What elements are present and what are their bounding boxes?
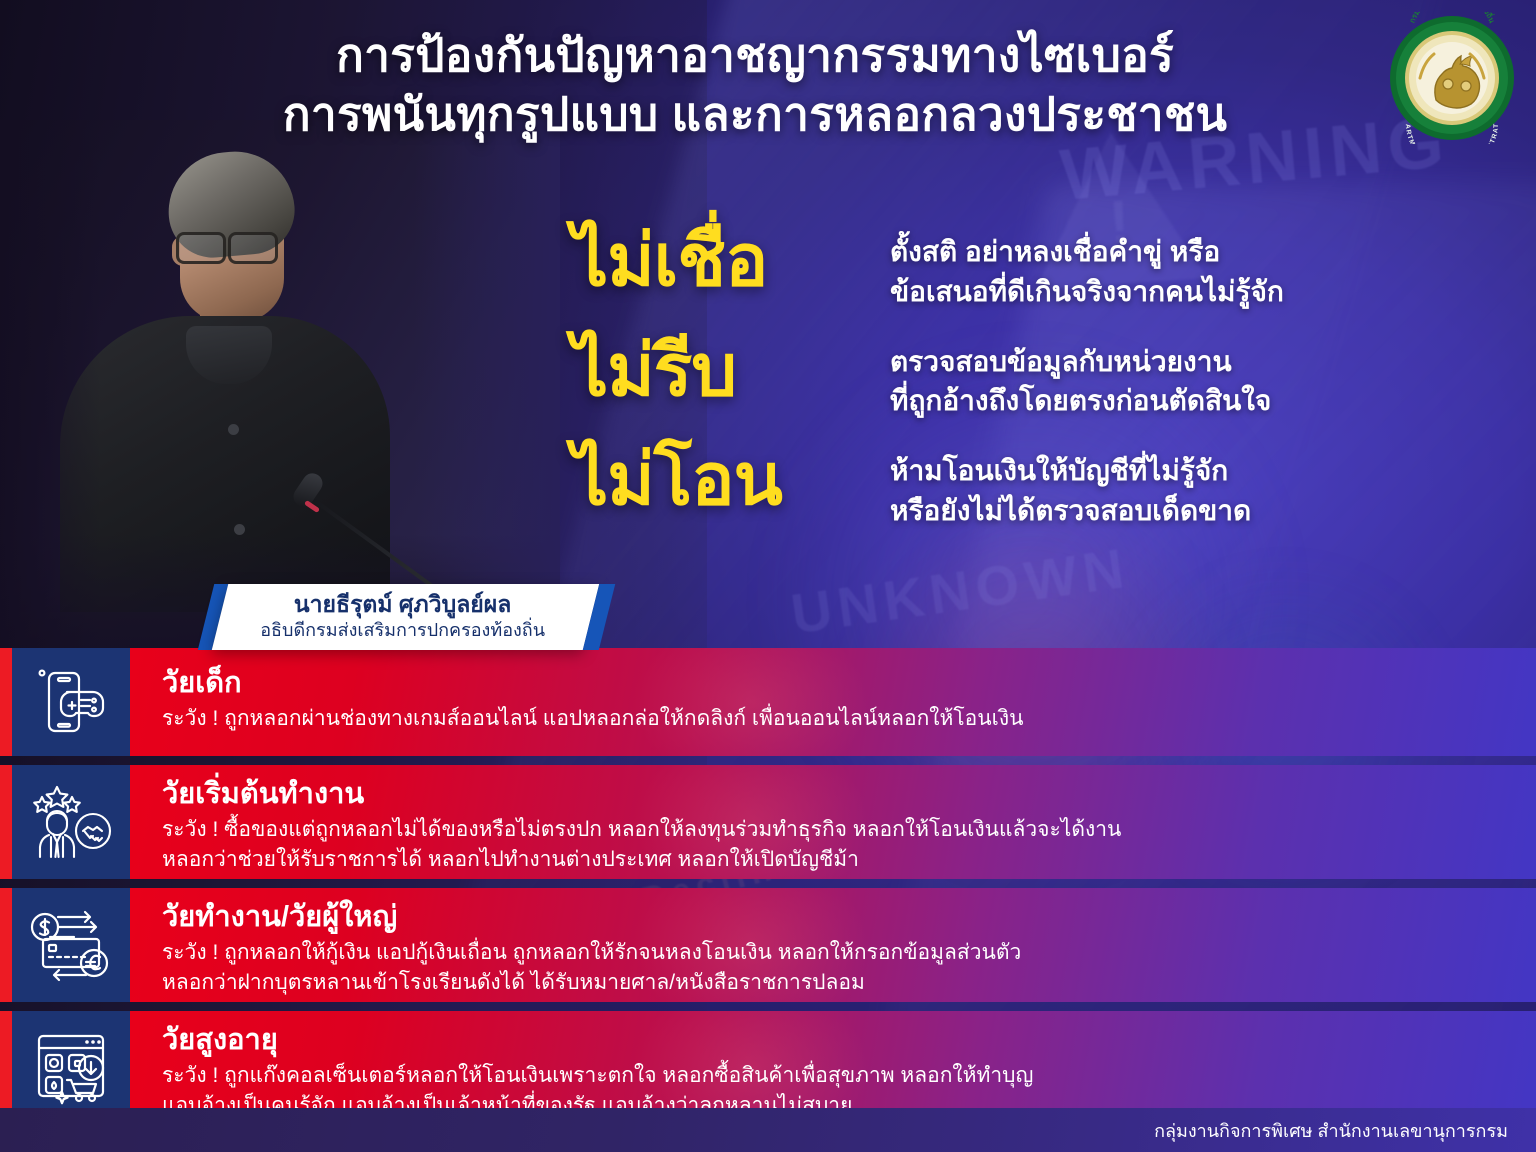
slogan-description: ตรวจสอบข้อมูลกับหน่วยงาน ที่ถูกอ้างถึงโด…: [890, 328, 1472, 422]
speaker-role: อธิบดีกรมส่งเสริมการปกครองท้องถิ่น: [260, 619, 545, 642]
mobile-game-controller-icon: [12, 648, 130, 756]
slogan-desc-line-2: ที่ถูกอ้างถึงโดยตรงก่อนตัดสินใจ: [890, 381, 1472, 421]
age-group-row-early-career: วัยเริ่มต้นทำงาน ระวัง ! ซื้อของแต่ถูกหล…: [0, 765, 1536, 879]
speaker-name: นายธีรุตม์ ศุภวิบูลย์ผล: [260, 591, 545, 619]
age-group-desc-line-1: ระวัง ! ถูกหลอกให้กู้เงิน แอปกู้เงินเถื่…: [162, 938, 1508, 968]
age-group-row-working-age: วัยทำงาน/วัยผู้ใหญ่ ระวัง ! ถูกหลอกให้กู…: [0, 888, 1536, 1002]
slogan-item: ไม่เชื่อ ตั้งสติ อย่าหลงเชื่อคำขู่ หรือ …: [572, 218, 1472, 312]
slogan-keyword: ไม่รีบ: [572, 328, 890, 416]
footer-credit: กลุ่มงานกิจการพิเศษ สำนักงานเลขานุการกรม: [1154, 1116, 1536, 1145]
age-group-desc-line-2: หลอกว่าช่วยให้รับราชการได้ หลอกไปทำงานต่…: [162, 845, 1508, 875]
speaker-name-banner: นายธีรุตม์ ศุภวิบูลย์ผล อธิบดีกรมส่งเสริ…: [206, 584, 607, 650]
slogan-item: ไม่โอน ห้ามโอนเงินให้บัญชีที่ไม่รู้จัก ห…: [572, 437, 1472, 531]
footer-bar: กลุ่มงานกิจการพิเศษ สำนักงานเลขานุการกรม: [0, 1108, 1536, 1152]
age-group-desc-line-1: ระวัง ! ซื้อของแต่ถูกหลอกไม่ได้ของหรือไม…: [162, 815, 1508, 845]
row-content: วัยเด็ก ระวัง ! ถูกหลอกผ่านช่องทางเกมส์อ…: [130, 648, 1536, 756]
row-content: วัยทำงาน/วัยผู้ใหญ่ ระวัง ! ถูกหลอกให้กู…: [130, 888, 1536, 1002]
age-group-title: วัยเด็ก: [162, 666, 1508, 701]
slogan-desc-line-1: ตรวจสอบข้อมูลกับหน่วยงาน: [890, 342, 1472, 382]
businessman-stars-handshake-icon: [12, 765, 130, 879]
slogan-description: ห้ามโอนเงินให้บัญชีที่ไม่รู้จัก หรือยังไ…: [890, 437, 1472, 531]
slogan-desc-line-2: หรือยังไม่ได้ตรวจสอบเด็ดขาด: [890, 491, 1472, 531]
slogan-block: ไม่เชื่อ ตั้งสติ อย่าหลงเชื่อคำขู่ หรือ …: [572, 218, 1472, 547]
age-group-desc-line-1: ระวัง ! ถูกแก๊งคอลเซ็นเตอร์หลอกให้โอนเงิ…: [162, 1061, 1508, 1091]
row-accent-strip: [0, 765, 12, 879]
banner-body: นายธีรุตม์ ศุภวิบูลย์ผล อธิบดีกรมส่งเสริ…: [212, 584, 599, 650]
money-transfer-card-icon: [12, 888, 130, 1002]
slogan-desc-line-1: ตั้งสติ อย่าหลงเชื่อคำขู่ หรือ: [890, 232, 1472, 272]
row-accent-strip: [0, 648, 12, 756]
age-group-title: วัยสูงอายุ: [162, 1023, 1508, 1058]
slogan-desc-line-2: ข้อเสนอที่ดีเกินจริงจากคนไม่รู้จัก: [890, 272, 1472, 312]
speaker-photo: [0, 120, 560, 650]
row-content: วัยเริ่มต้นทำงาน ระวัง ! ซื้อของแต่ถูกหล…: [130, 765, 1536, 879]
age-group-title: วัยเริ่มต้นทำงาน: [162, 777, 1508, 812]
slogan-keyword: ไม่โอน: [572, 437, 890, 525]
age-group-list: วัยเด็ก ระวัง ! ถูกหลอกผ่านช่องทางเกมส์อ…: [0, 648, 1536, 1134]
department-of-local-administration-seal-icon: กรมส่งเสริมการปกครองท้องถิ่น DEPARTMENT …: [1386, 12, 1518, 144]
row-accent-strip: [0, 888, 12, 1002]
slogan-item: ไม่รีบ ตรวจสอบข้อมูลกับหน่วยงาน ที่ถูกอ้…: [572, 328, 1472, 422]
slogan-desc-line-1: ห้ามโอนเงินให้บัญชีที่ไม่รู้จัก: [890, 451, 1472, 491]
slogan-keyword: ไม่เชื่อ: [572, 218, 890, 306]
poster-root: WARNING UNKNOWN Decline Accept การป้องกั…: [0, 0, 1536, 1152]
age-group-desc-line-2: หลอกว่าฝากบุตรหลานเข้าโรงเรียนดังได้ ได้…: [162, 968, 1508, 998]
photo-edge-fade: [0, 120, 560, 650]
age-group-row-children: วัยเด็ก ระวัง ! ถูกหลอกผ่านช่องทางเกมส์อ…: [0, 648, 1536, 756]
slogan-description: ตั้งสติ อย่าหลงเชื่อคำขู่ หรือ ข้อเสนอที…: [890, 218, 1472, 312]
age-group-desc-line-1: ระวัง ! ถูกหลอกผ่านช่องทางเกมส์ออนไลน์ แ…: [162, 704, 1508, 734]
age-group-title: วัยทำงาน/วัยผู้ใหญ่: [162, 900, 1508, 935]
